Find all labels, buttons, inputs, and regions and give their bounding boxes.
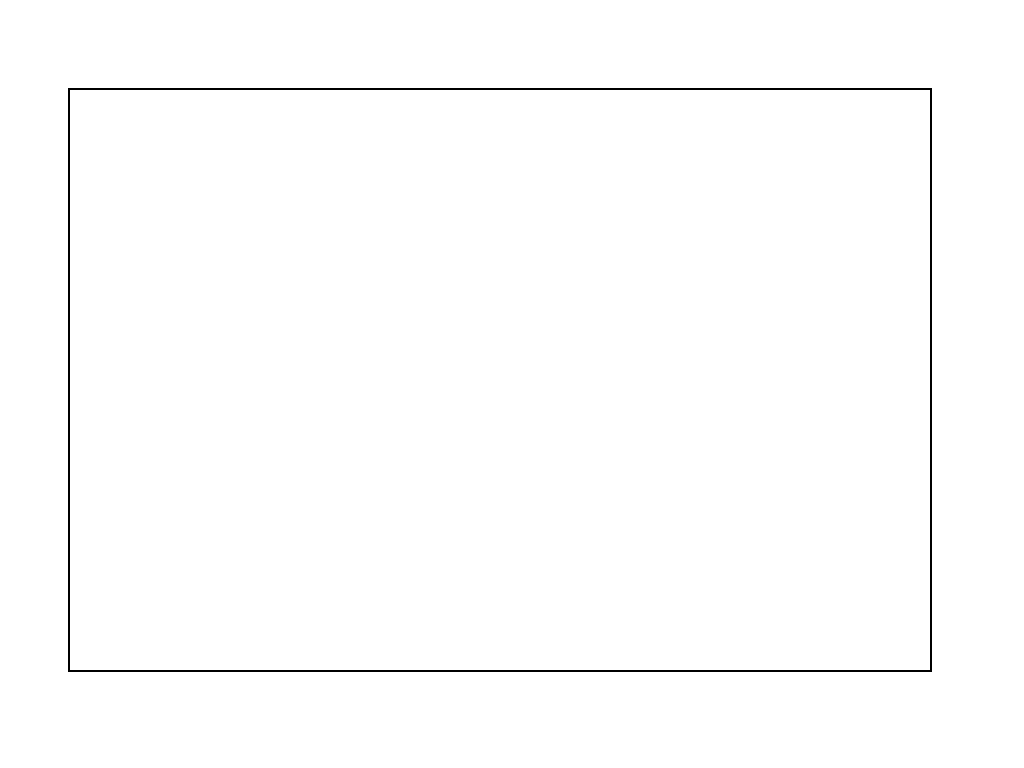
chart-page: [0, 0, 1024, 768]
colorbar: [938, 286, 1024, 478]
y-axis-labels: [0, 88, 62, 672]
richardson-heatmap: [68, 88, 932, 672]
plot-area: [68, 88, 932, 672]
x-axis-labels: [68, 676, 932, 736]
